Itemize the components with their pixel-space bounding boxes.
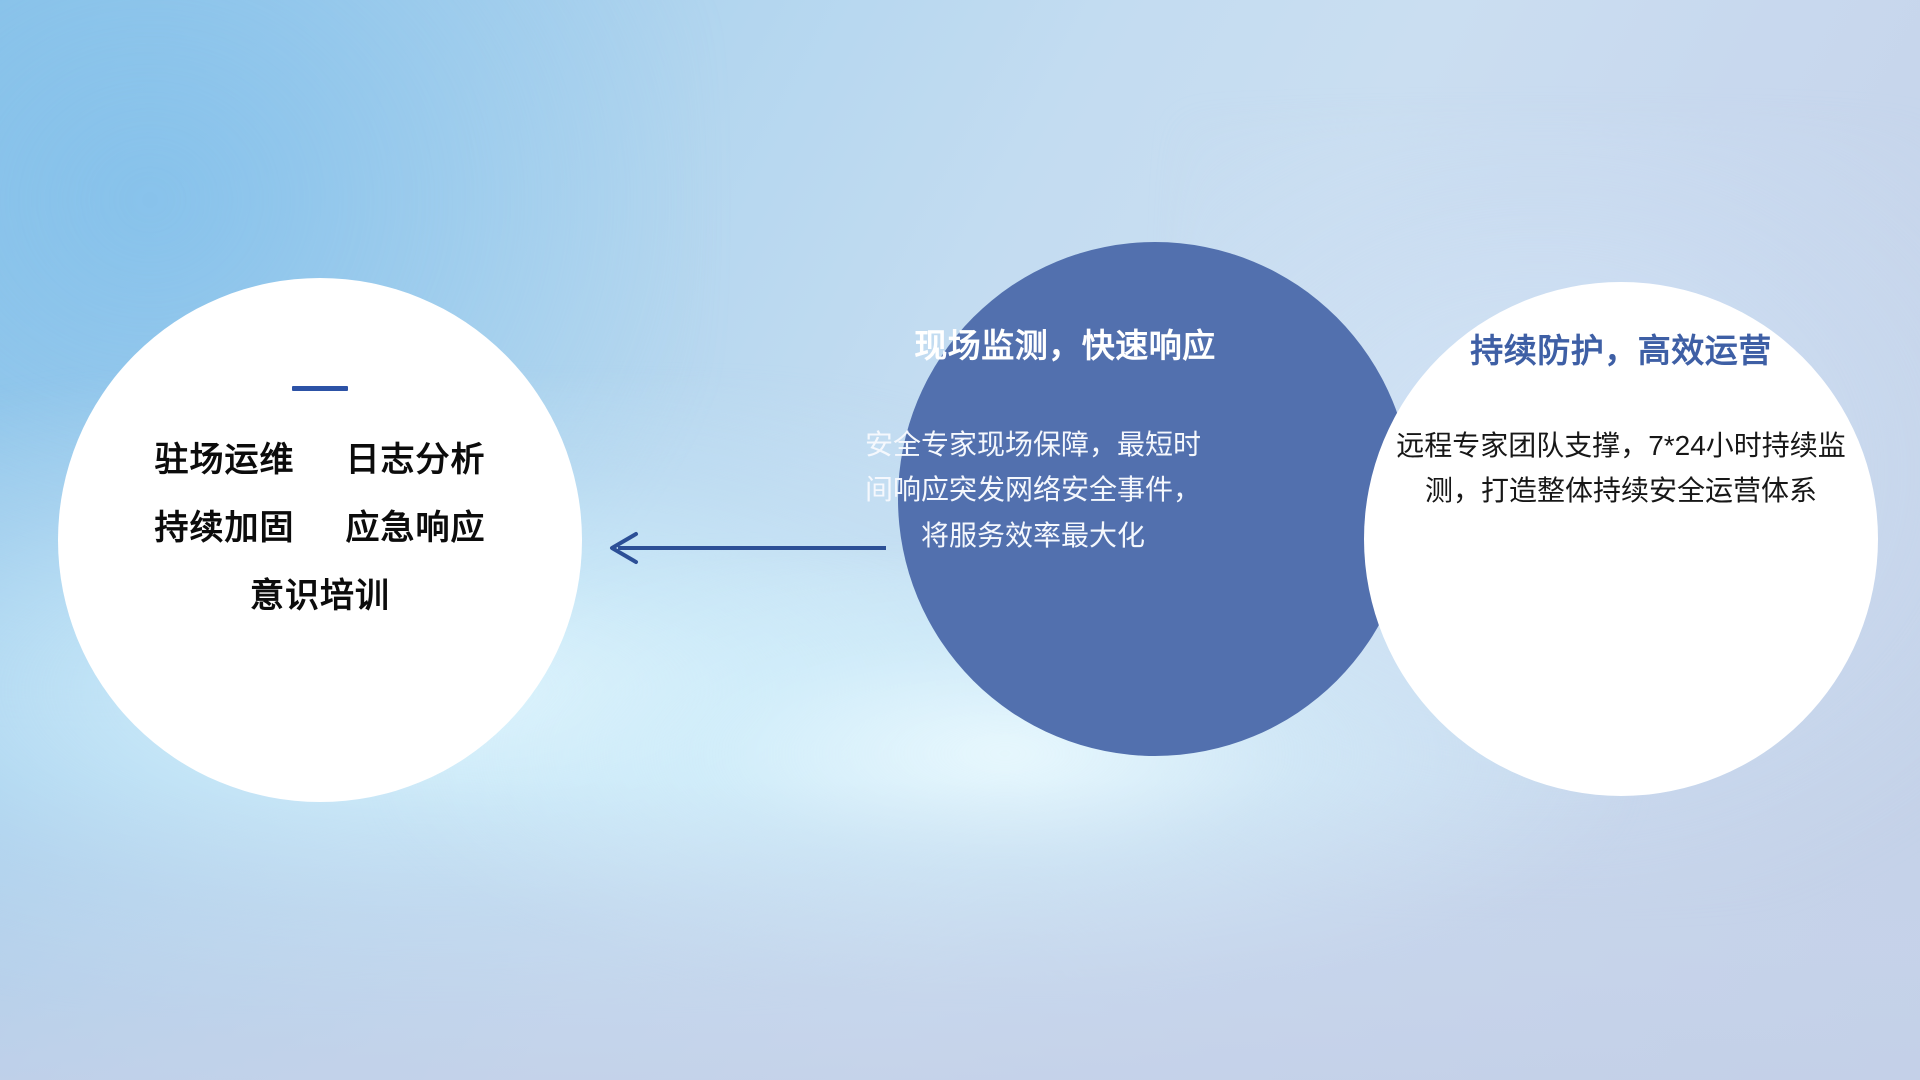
center-circle-shape xyxy=(898,242,1412,756)
keyword-label: 意识培训 xyxy=(250,577,390,615)
left-circle-content: 驻场运维 日志分析 持续加固 应急响应 意识培训 xyxy=(58,386,582,613)
connector-arrow xyxy=(596,520,896,576)
keyword-row: 持续加固 应急响应 xyxy=(58,511,582,545)
keyword-row: 驻场运维 日志分析 xyxy=(58,443,582,477)
keyword-row: 意识培训 xyxy=(58,579,582,613)
keyword-label: 应急响应 xyxy=(345,509,485,547)
left-circle-card: 驻场运维 日志分析 持续加固 应急响应 意识培训 xyxy=(58,278,582,802)
keyword-label: 持续加固 xyxy=(155,509,295,547)
keyword-label: 日志分析 xyxy=(345,441,485,479)
divider-dash-icon xyxy=(292,386,348,391)
background-shade-bottom xyxy=(0,780,1920,1080)
right-circle-card xyxy=(1364,282,1878,796)
arrow-left-icon xyxy=(596,520,896,576)
slide-canvas: 驻场运维 日志分析 持续加固 应急响应 意识培训 现场监测，快速响应 安全专家现… xyxy=(0,0,1920,1080)
keyword-label: 驻场运维 xyxy=(155,441,295,479)
